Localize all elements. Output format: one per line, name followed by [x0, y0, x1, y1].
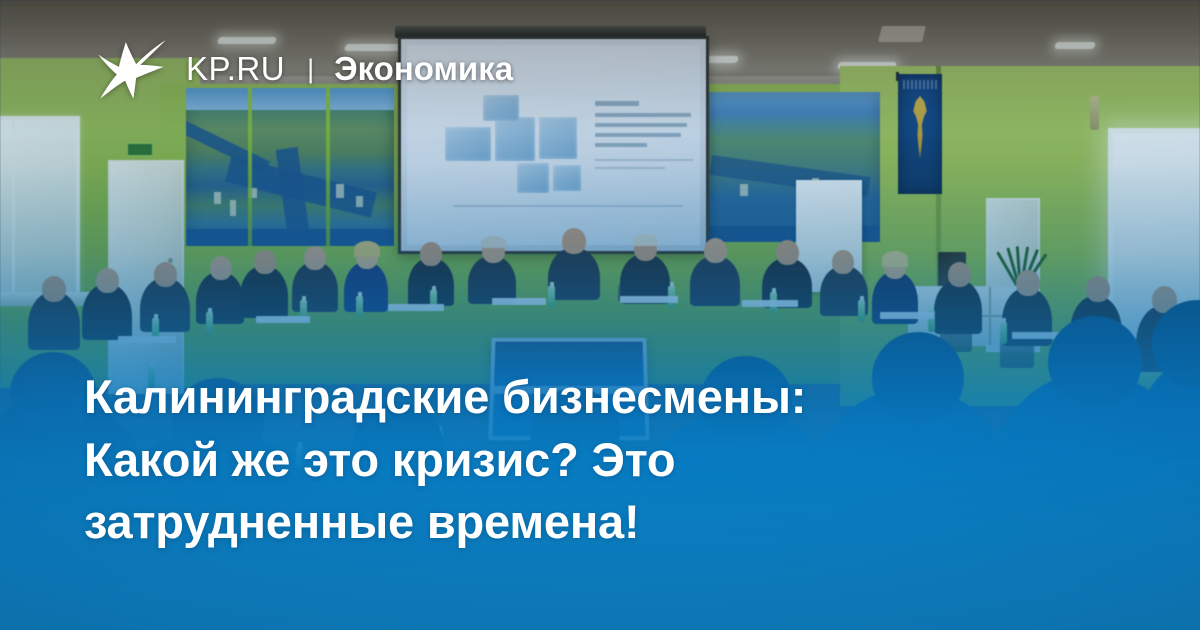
person-hair-grey: [633, 234, 658, 246]
slide-body-text: [595, 123, 687, 127]
slide-rule: [453, 205, 683, 207]
mural-building: [214, 192, 221, 204]
window-mullion: [12, 118, 15, 294]
slide-body-text: [595, 133, 681, 137]
brand-section-label[interactable]: Экономика: [334, 50, 513, 88]
brand-header: KP.RU | Экономика: [96, 38, 513, 100]
person-head: [254, 250, 276, 274]
seated-person-speaker: [548, 248, 600, 300]
person-hair-grey: [481, 236, 506, 248]
document-paper: [492, 298, 546, 305]
person-hair: [882, 251, 908, 267]
headline: Калининградские бизнесмены: Какой же это…: [84, 366, 944, 554]
person-head: [304, 246, 326, 270]
seated-person-woman: [344, 262, 388, 312]
person-head: [96, 268, 119, 293]
brand-name[interactable]: KP.RU: [186, 50, 285, 88]
slide-image: [495, 117, 535, 161]
document-paper: [388, 304, 444, 311]
social-share-card: KP.RU | Экономика Калининградские бизнес…: [0, 0, 1200, 630]
slide-image: [445, 127, 491, 161]
brand-separator: |: [307, 54, 314, 85]
aerial-photo-mural: [186, 88, 394, 246]
person-head: [562, 228, 586, 254]
mural-divider: [248, 88, 252, 246]
ceiling-lamp: [1054, 42, 1096, 49]
slide-rule: [595, 167, 665, 169]
exit-sign: [128, 144, 152, 155]
headline-line-1: Калининградские бизнесмены:: [84, 366, 944, 429]
slide-image: [517, 163, 549, 193]
slide-title-text: [595, 101, 639, 106]
flag-inscription: [903, 80, 937, 89]
slide-body-text: [595, 113, 691, 117]
slide-image: [553, 165, 581, 191]
slide-image: [539, 117, 577, 159]
mural-building: [336, 184, 344, 198]
slide-body-text: [595, 143, 647, 147]
headline-line-2: Какой же это кризис? Это: [84, 429, 944, 492]
person-head: [832, 250, 854, 274]
seated-person: [934, 280, 982, 334]
kp-swallow-bird-logo-icon[interactable]: [96, 38, 168, 100]
water-bottle: [858, 300, 865, 322]
document-paper: [742, 300, 798, 307]
mural-divider: [326, 88, 330, 246]
seated-person: [690, 256, 740, 306]
document-paper: [118, 336, 176, 343]
mural-building: [356, 196, 363, 207]
document-paper: [880, 312, 934, 319]
seated-person: [468, 256, 516, 304]
person-head: [776, 240, 799, 265]
wall-sconce: [1090, 96, 1099, 130]
person-head: [1086, 276, 1110, 302]
person-head: [1016, 270, 1040, 296]
document-paper: [620, 296, 678, 303]
ceiling-vent: [878, 26, 926, 42]
person-head: [210, 256, 232, 280]
water-bottle: [548, 286, 555, 308]
mural-building: [740, 184, 748, 196]
foreground-person-head: [1048, 316, 1142, 408]
person-head: [704, 238, 727, 263]
water-bottle: [1000, 322, 1007, 344]
person-head: [420, 242, 442, 266]
mural-building: [230, 200, 236, 216]
person-head: [948, 262, 971, 287]
slide-rule: [595, 159, 693, 161]
water-bottle: [356, 296, 363, 318]
headline-line-3: затрудненные времена!: [84, 491, 944, 554]
person-head: [154, 262, 177, 287]
water-bottle: [206, 312, 213, 334]
person-head: [42, 276, 66, 302]
document-paper: [256, 316, 310, 323]
person-hair: [354, 241, 380, 257]
